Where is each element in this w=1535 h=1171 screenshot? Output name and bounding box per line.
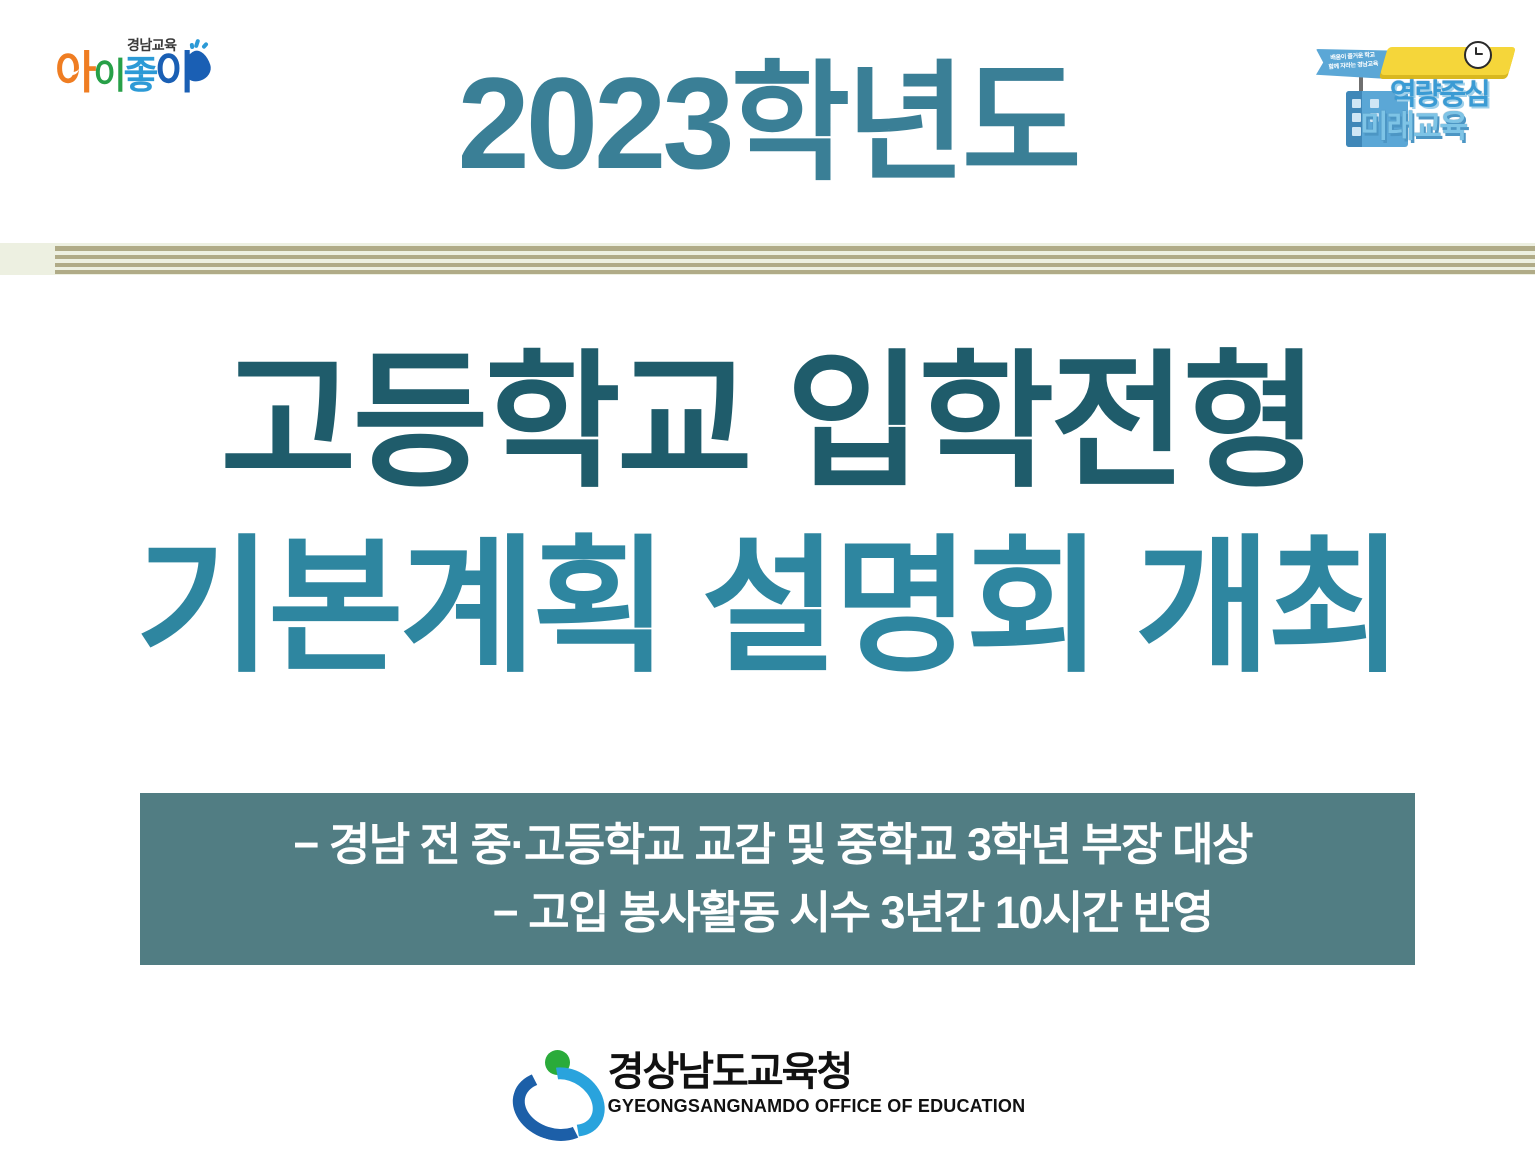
headline-line-1: 고등학교 입학전형 (0, 330, 1535, 515)
divider-stripe (55, 270, 1535, 274)
banner-flag-line1: 배움이 즐거운 학교 (1330, 52, 1375, 61)
footer-organization-text: 경상남도교육청 GYEONGSANGNAMDO OFFICE OF EDUCAT… (608, 1051, 1026, 1118)
sparkle-icon (194, 39, 201, 49)
year-title: 2023학년도 (0, 55, 1535, 192)
future-education-logo: 배움이 즐거운 학교 함께 자라는 경남교육 역량중심 미래교육 (1312, 33, 1527, 151)
poster-page: 경남교육 아이좋아 2023학년도 배움이 즐거운 학교 함께 자라는 경남교육 (0, 0, 1535, 1171)
organization-name-en: GYEONGSANGNAMDO OFFICE OF EDUCATION (608, 1096, 1026, 1118)
divider-stripe (55, 246, 1535, 251)
banner-flag-line2: 함께 자라는 경남교육 (1328, 61, 1378, 70)
emblem-arc-swoosh-icon (503, 1060, 606, 1151)
header-band: 경남교육 아이좋아 2023학년도 배움이 즐거운 학교 함께 자라는 경남교육 (0, 0, 1535, 243)
subtitle-box: − 경남 전 중·고등학교 교감 및 중학교 3학년 부장 대상 − 고입 봉사… (140, 793, 1415, 965)
divider-stripe (55, 255, 1535, 259)
striped-divider (0, 243, 1535, 275)
headline-block: 고등학교 입학전형 기본계획 설명회 개최 (0, 330, 1535, 700)
sparkle-icon (201, 42, 209, 50)
gne-emblem-icon (510, 1046, 592, 1122)
future-logo-line2: 미래교육 (1360, 101, 1466, 146)
clock-icon (1464, 41, 1492, 69)
subtitle-line-1: − 경남 전 중·고등학교 교감 및 중학교 3학년 부장 대상 (293, 811, 1252, 879)
organization-name-ko: 경상남도교육청 (608, 1051, 1026, 1093)
footer-organization-logo: 경상남도교육청 GYEONGSANGNAMDO OFFICE OF EDUCAT… (0, 1046, 1535, 1122)
divider-stripe (55, 263, 1535, 267)
headline-line-2: 기본계획 설명회 개최 (0, 515, 1535, 700)
subtitle-line-2: − 고입 봉사활동 시수 3년간 10시간 반영 (493, 879, 1213, 947)
sparkle-icon (190, 43, 195, 49)
